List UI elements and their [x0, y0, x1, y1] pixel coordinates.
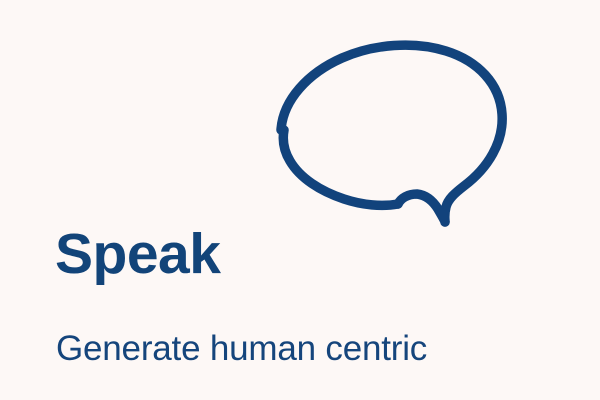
speech-bubble-icon: [262, 28, 520, 236]
subtitle: Generate human centric microcopy for all…: [56, 249, 469, 400]
subtitle-line-1: Generate human centric: [56, 329, 469, 369]
speech-bubble-illustration: [262, 28, 520, 236]
poster-canvas: Speak Human. Generate human centric micr…: [0, 0, 600, 400]
